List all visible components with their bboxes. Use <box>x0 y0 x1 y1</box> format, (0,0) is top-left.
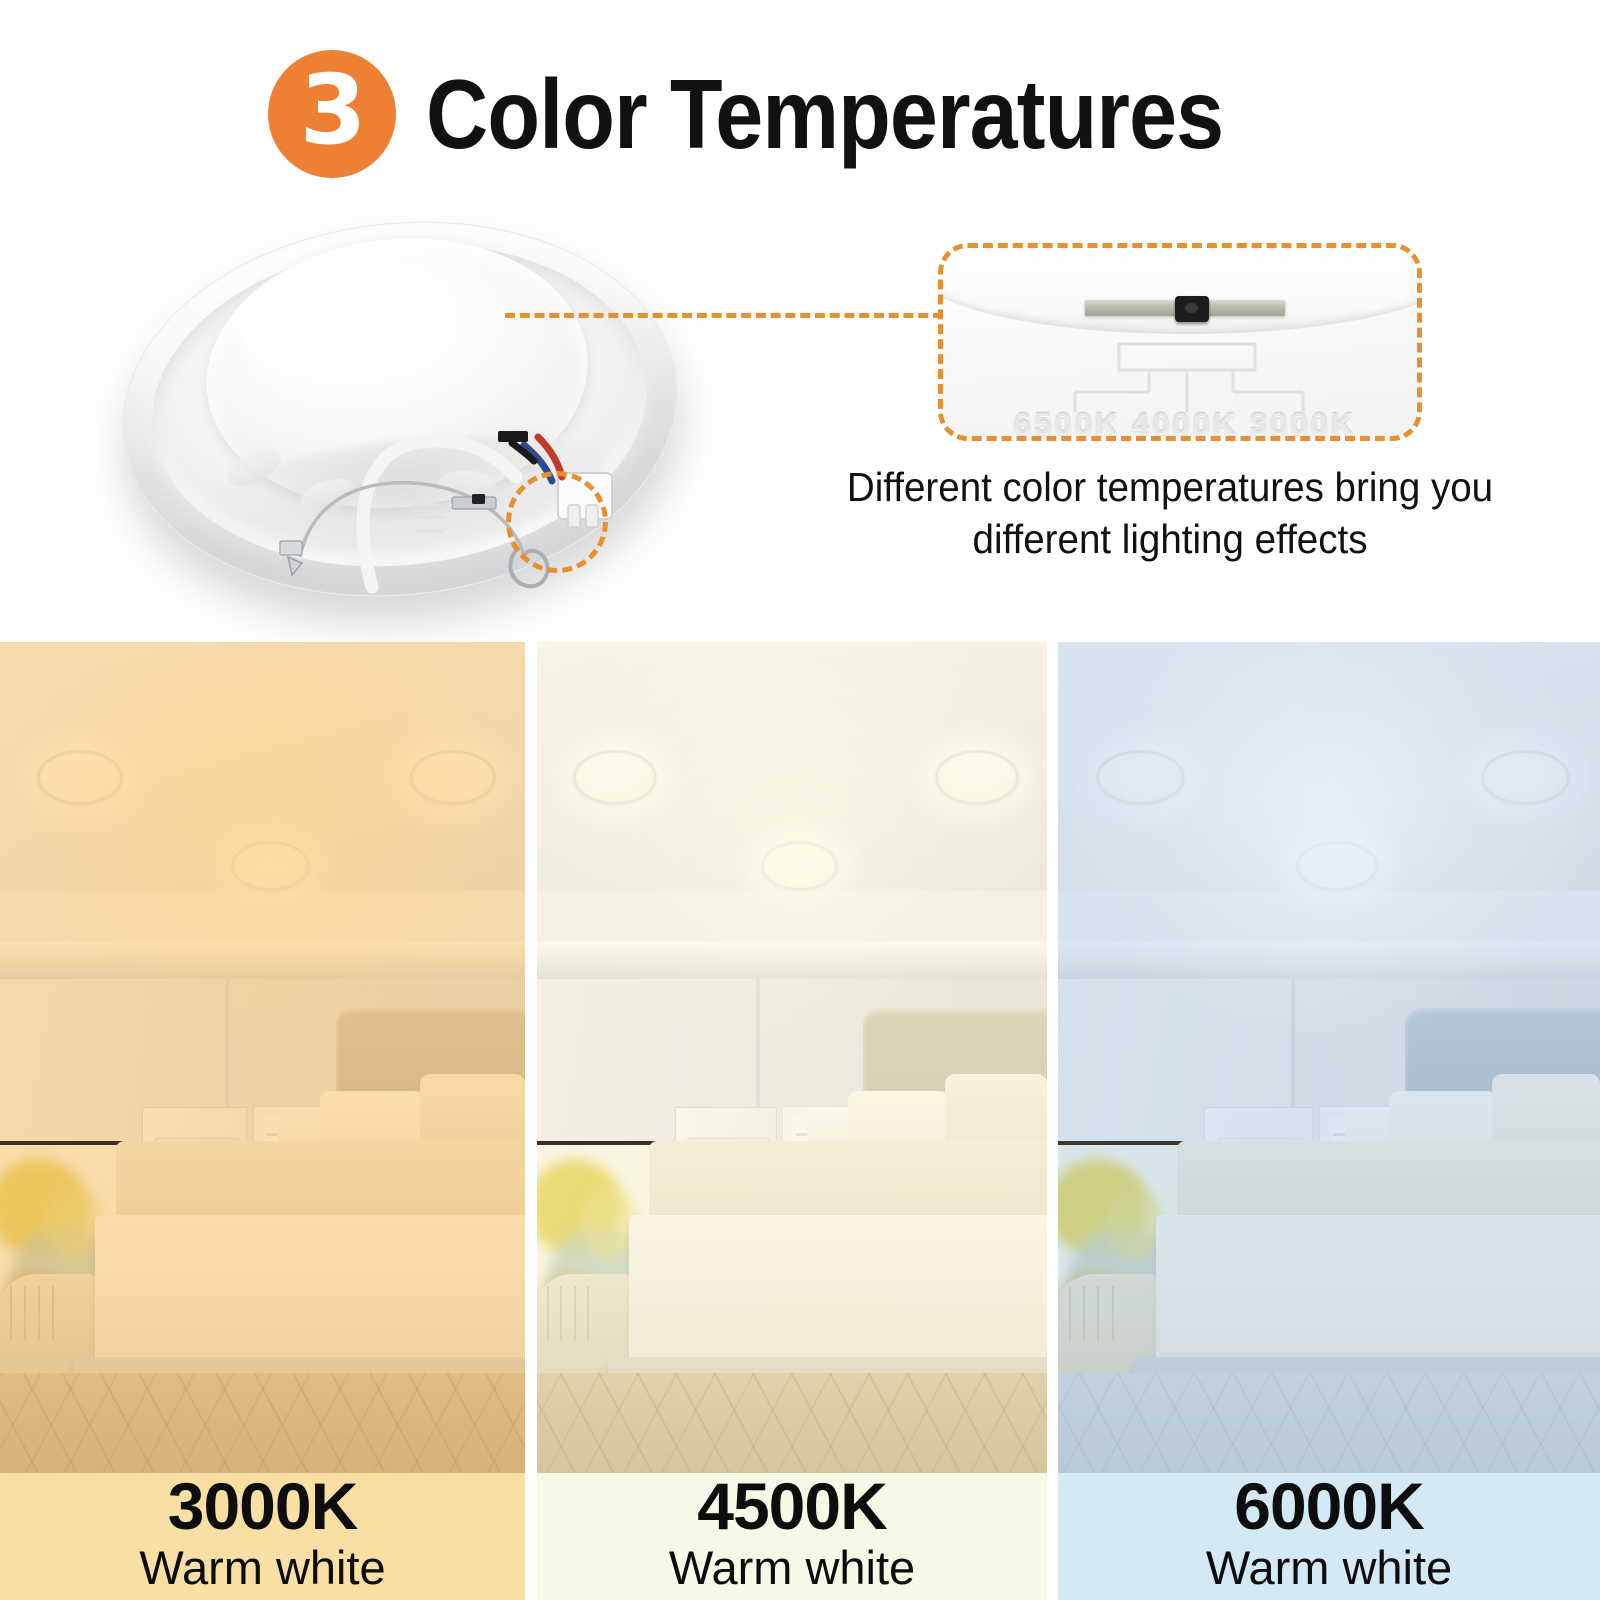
ceiling-light-icon <box>37 750 124 805</box>
ceiling-light-icon <box>1296 841 1377 891</box>
caption-line-2: different lighting effects <box>813 514 1527 566</box>
ceiling-light-icon <box>573 750 657 805</box>
callout-leader-line <box>505 313 943 318</box>
white-name: Warm white <box>669 1542 915 1594</box>
white-name: Warm white <box>139 1542 385 1594</box>
page-header: 3 Color Temperatures <box>0 46 1600 182</box>
scene-4500k <box>537 642 1047 1473</box>
kelvin-value: 4500K <box>697 1473 887 1540</box>
kelvin-value: 6000K <box>1234 1473 1424 1540</box>
ceiling-light-icon <box>410 750 497 805</box>
caption: Different color temperatures bring you d… <box>813 462 1527 565</box>
scene-6000k <box>1058 642 1600 1473</box>
switch-detail-callout: 6500K 4000K 3000K <box>938 243 1422 441</box>
wiring-and-clips <box>100 205 700 615</box>
kelvin-value: 3000K <box>168 1473 358 1540</box>
floor <box>537 1373 1047 1473</box>
ceiling-light-icon <box>1481 750 1570 805</box>
label-bar-4500k: 4500K Warm white <box>537 1473 1047 1600</box>
ceiling-light-icon <box>761 841 838 891</box>
white-name: Warm white <box>1206 1542 1452 1594</box>
comparison-panels: 3000K Warm white <box>0 642 1600 1600</box>
label-bar-3000k: 3000K Warm white <box>0 1473 525 1600</box>
ceiling-light-icon <box>1096 750 1185 805</box>
panel-4500k: 4500K Warm white <box>537 642 1047 1600</box>
ceiling-light-icon <box>231 841 310 891</box>
panel-3000k: 3000K Warm white <box>0 642 525 1600</box>
switch-diagram <box>943 336 1422 416</box>
ceiling-light-icon <box>935 750 1019 805</box>
panel-6000k: 6000K Warm white <box>1058 642 1600 1600</box>
page-title: Color Temperatures <box>426 65 1223 163</box>
product-infographic: 3 Color Temperatures <box>0 0 1600 1600</box>
switch-temperature-labels: 6500K 4000K 3000K <box>943 406 1422 441</box>
floor <box>0 1373 525 1473</box>
product-photo <box>100 205 700 615</box>
label-bar-6000k: 6000K Warm white <box>1058 1473 1600 1600</box>
dip-switch-knob <box>1175 296 1209 322</box>
floor <box>1058 1373 1600 1473</box>
number-badge: 3 <box>268 50 396 178</box>
scene-3000k <box>0 642 525 1473</box>
caption-line-1: Different color temperatures bring you <box>813 462 1527 514</box>
switch-highlight-circle <box>506 471 608 573</box>
badge-number: 3 <box>300 62 365 158</box>
